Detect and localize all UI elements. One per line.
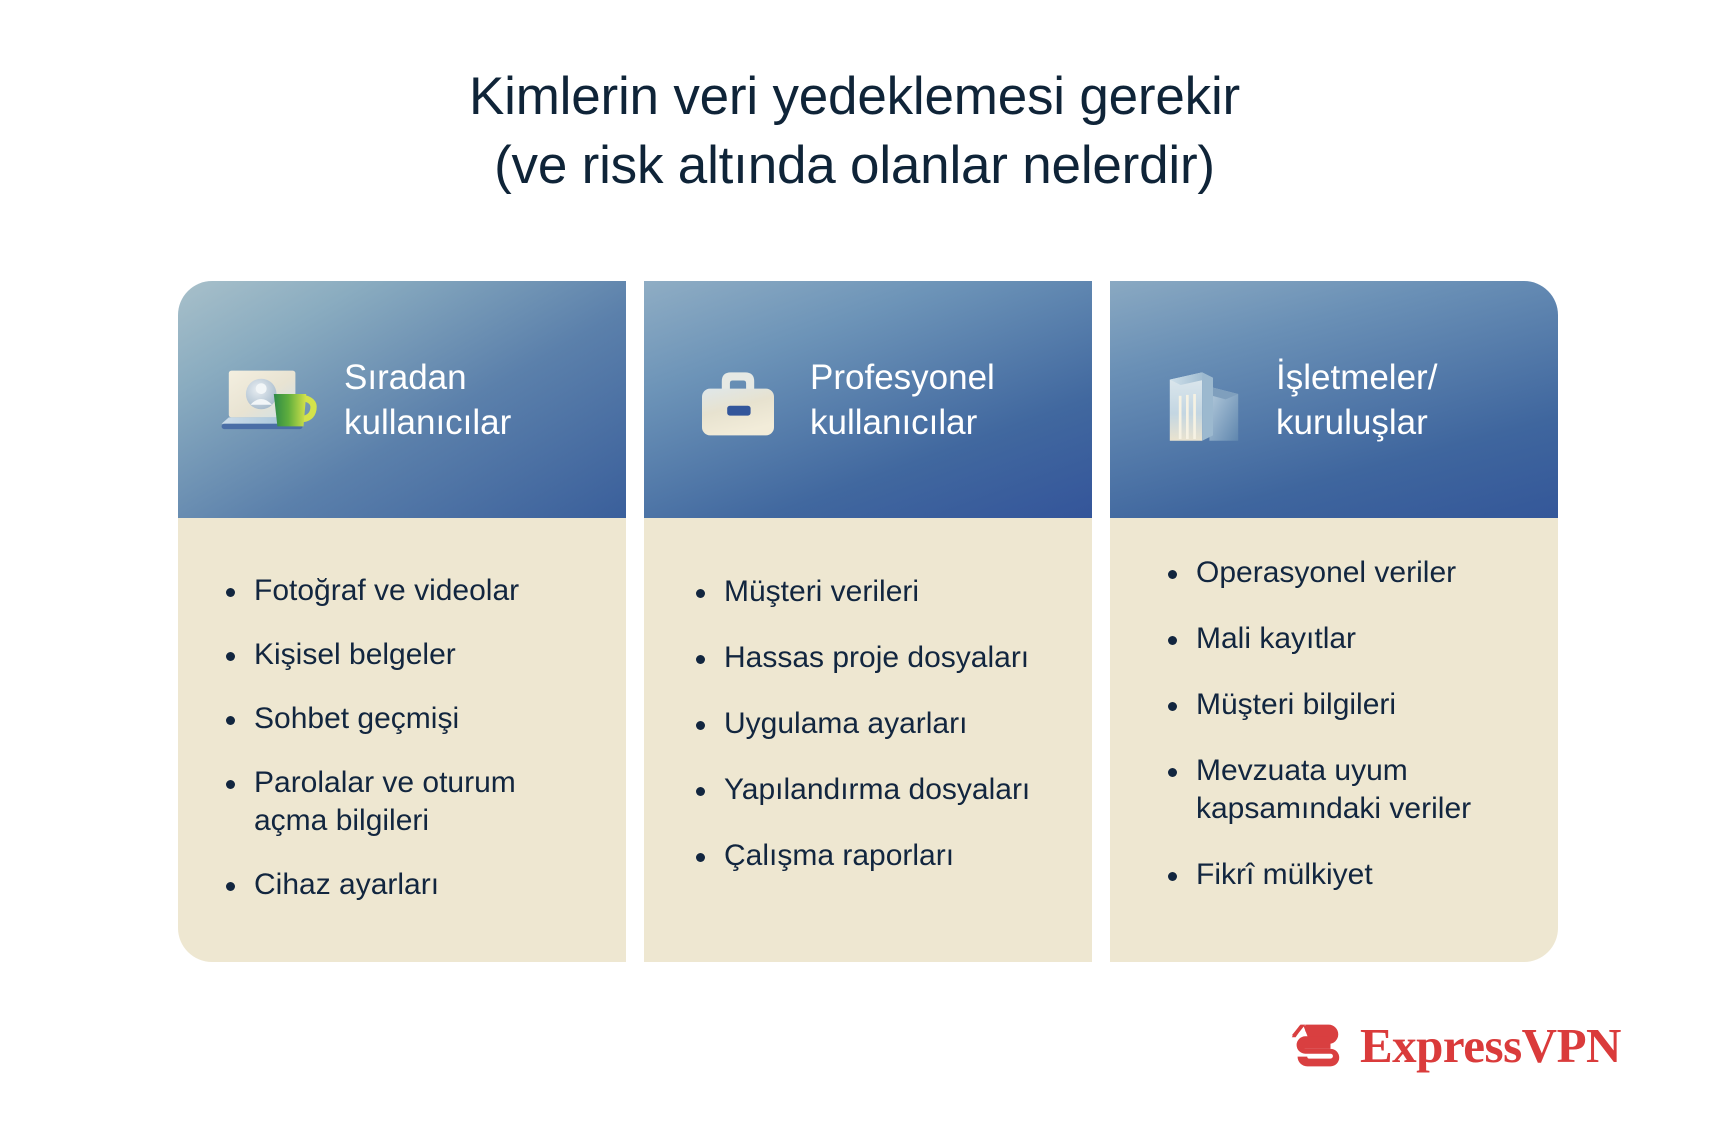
bullet-list: Müşteri verileri Hassas proje dosyaları …: [644, 573, 1092, 903]
laptop-user-mug-icon: [218, 349, 326, 457]
expressvpn-e-mark-icon: [1284, 1014, 1346, 1076]
column-header: Sıradan kullanıcılar: [178, 281, 626, 518]
bullet-list: Fotoğraf ve videolar Kişisel belgeler So…: [178, 572, 626, 904]
list-item: Parolalar ve oturum açma bilgileri: [224, 764, 626, 840]
list-item: Fikrî mülkiyet: [1166, 856, 1558, 894]
list-item: Kişisel belgeler: [224, 636, 626, 674]
page-title-line-2: (ve risk altında olanlar nelerdir): [0, 131, 1709, 200]
bullet-list: Operasyonel veriler Mali kayıtlar Müşter…: [1110, 554, 1558, 922]
list-item: Hassas proje dosyaları: [694, 639, 1092, 677]
office-buildings-icon: [1150, 349, 1258, 457]
page-title: Kimlerin veri yedeklemesi gerekir (ve ri…: [0, 62, 1709, 200]
expressvpn-logo: ExpressVPN: [1284, 1014, 1621, 1076]
column-body: Fotoğraf ve videolar Kişisel belgeler So…: [178, 518, 626, 962]
list-item: Yapılandırma dosyaları: [694, 771, 1092, 809]
column-title: İşletmeler/ kuruluşlar: [1276, 355, 1437, 445]
list-item: Fotoğraf ve videolar: [224, 572, 626, 610]
list-item: Mevzuata uyum kapsamındaki veriler: [1166, 752, 1558, 828]
column-header: İşletmeler/ kuruluşlar: [1110, 281, 1558, 518]
column-body: Müşteri verileri Hassas proje dosyaları …: [644, 518, 1092, 962]
list-item: Müşteri bilgileri: [1166, 686, 1558, 724]
column-casual-users: Sıradan kullanıcılar Fotoğraf ve videola…: [178, 281, 626, 962]
column-body: Operasyonel veriler Mali kayıtlar Müşter…: [1110, 518, 1558, 962]
list-item: Çalışma raporları: [694, 837, 1092, 875]
column-header: Profesyonel kullanıcılar: [644, 281, 1092, 518]
list-item: Operasyonel veriler: [1166, 554, 1558, 592]
page-title-line-1: Kimlerin veri yedeklemesi gerekir: [0, 62, 1709, 131]
list-item: Müşteri verileri: [694, 573, 1092, 611]
list-item: Cihaz ayarları: [224, 866, 626, 904]
list-item: Mali kayıtlar: [1166, 620, 1558, 658]
column-professional-users: Profesyonel kullanıcılar Müşteri veriler…: [644, 281, 1092, 962]
expressvpn-logo-text: ExpressVPN: [1360, 1021, 1621, 1070]
list-item: Uygulama ayarları: [694, 705, 1092, 743]
list-item: Sohbet geçmişi: [224, 700, 626, 738]
comparison-columns: Sıradan kullanıcılar Fotoğraf ve videola…: [178, 281, 1558, 962]
column-title: Profesyonel kullanıcılar: [810, 355, 995, 445]
column-title: Sıradan kullanıcılar: [344, 355, 511, 445]
column-businesses-organizations: İşletmeler/ kuruluşlar Operasyonel veril…: [1110, 281, 1558, 962]
briefcase-icon: [684, 349, 792, 457]
